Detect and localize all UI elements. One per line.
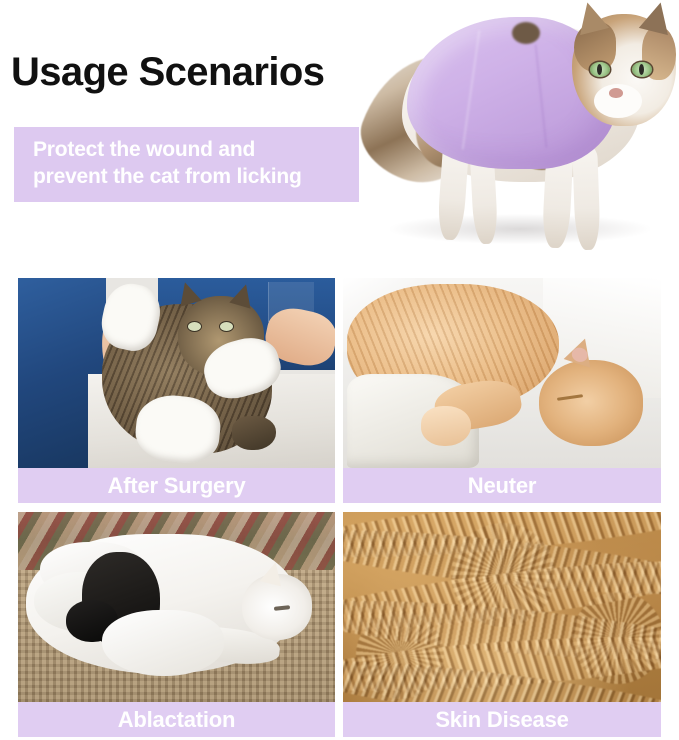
scenario-label-text: Skin Disease (435, 707, 568, 733)
scenario-label-after-surgery: After Surgery (18, 468, 335, 503)
header-section: Usage Scenarios Protect the wound and pr… (0, 0, 679, 278)
cat-pupil-left (597, 64, 602, 75)
tabby-cat-eye-left (188, 322, 201, 331)
scenario-card-after-surgery: After Surgery (18, 278, 335, 503)
scenario-card-skin-disease: Skin Disease (343, 512, 661, 737)
ginger-cat-paw (421, 406, 471, 446)
ginger-cat-head (539, 360, 643, 446)
subtitle-banner: Protect the wound and prevent the cat fr… (14, 127, 359, 202)
subtitle-line-1: Protect the wound and (33, 136, 359, 163)
hero-photo-cat-in-recovery-suit (360, 0, 679, 268)
scenario-photo-neuter (343, 278, 661, 468)
hero-shadow (390, 214, 650, 244)
tabby-cat-eye-right (220, 322, 233, 331)
scenario-grid: After Surgery Neuter (0, 278, 679, 740)
page-title: Usage Scenarios (11, 50, 324, 95)
scenario-card-ablactation: Ablactation (18, 512, 335, 737)
cat-pupil-right (639, 64, 644, 75)
white-kitten (102, 610, 224, 676)
scenario-label-text: Neuter (468, 473, 537, 499)
scenario-card-neuter: Neuter (343, 278, 661, 503)
scenario-label-text: After Surgery (108, 473, 246, 499)
ear-inner (570, 346, 590, 364)
scenario-label-text: Ablactation (118, 707, 236, 733)
subtitle-line-2: prevent the cat from licking (33, 163, 359, 190)
tabby-cat-paw (232, 416, 276, 450)
scenario-photo-ablactation (18, 512, 335, 702)
scenario-label-neuter: Neuter (343, 468, 661, 503)
scenario-photo-after-surgery (18, 278, 335, 468)
suit-armhole (512, 22, 540, 44)
cat-nose (609, 88, 623, 98)
scenario-photo-skin-disease (343, 512, 661, 702)
scenario-label-skin-disease: Skin Disease (343, 702, 661, 737)
scenario-label-ablactation: Ablactation (18, 702, 335, 737)
